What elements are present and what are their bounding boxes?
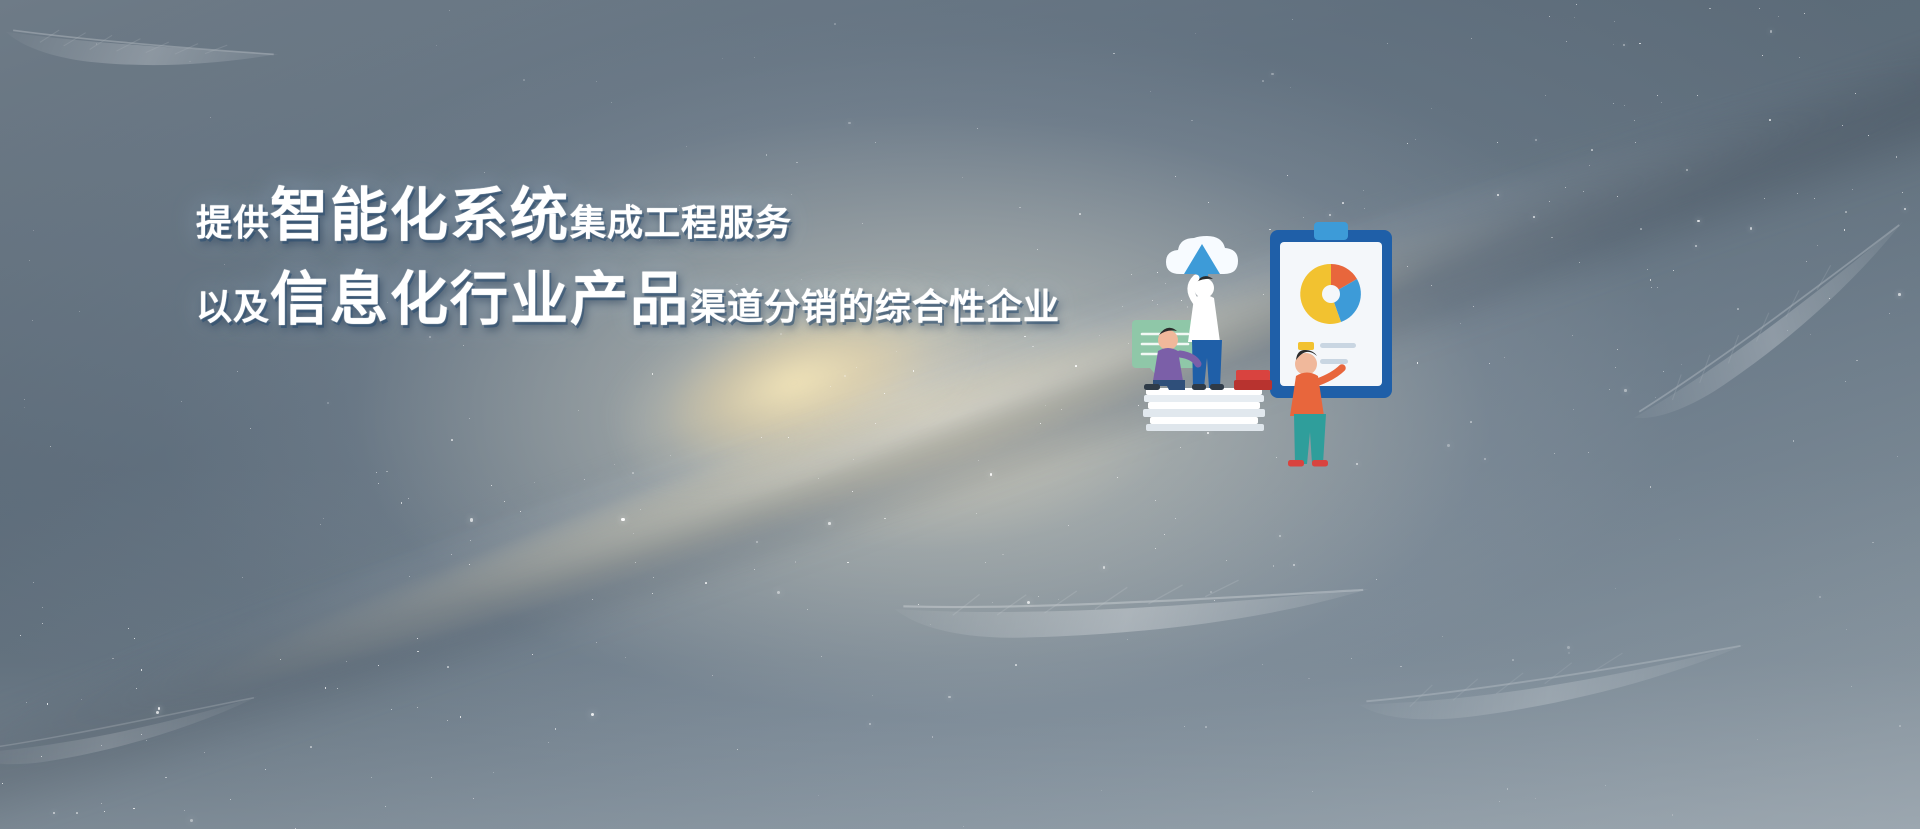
- stack-of-papers: [1143, 388, 1265, 431]
- headline-line2-seg1: 以及: [196, 290, 270, 326]
- headline: 提供 智能化系统 集成工程服务 以及 信息化行业产品 渠道分销的综合性企业: [196, 186, 1096, 328]
- headline-line-1: 提供 智能化系统 集成工程服务: [196, 186, 1096, 244]
- standing-person-blue: [1188, 276, 1224, 390]
- pie-chart: [1300, 264, 1361, 324]
- headline-line1-seg3: 集成工程服务: [570, 206, 792, 242]
- headline-line1-seg1: 提供: [196, 206, 270, 242]
- red-book: [1234, 370, 1272, 390]
- business-analytics-illustration: [1130, 212, 1450, 492]
- headline-line2-seg3: 渠道分销的综合性企业: [690, 290, 1060, 326]
- headline-line1-seg2: 智能化系统: [270, 186, 570, 244]
- headline-line2-seg2: 信息化行业产品: [270, 270, 690, 328]
- headline-line-2: 以及 信息化行业产品 渠道分销的综合性企业: [196, 270, 1096, 328]
- hero-banner: 提供 智能化系统 集成工程服务 以及 信息化行业产品 渠道分销的综合性企业: [0, 0, 1920, 829]
